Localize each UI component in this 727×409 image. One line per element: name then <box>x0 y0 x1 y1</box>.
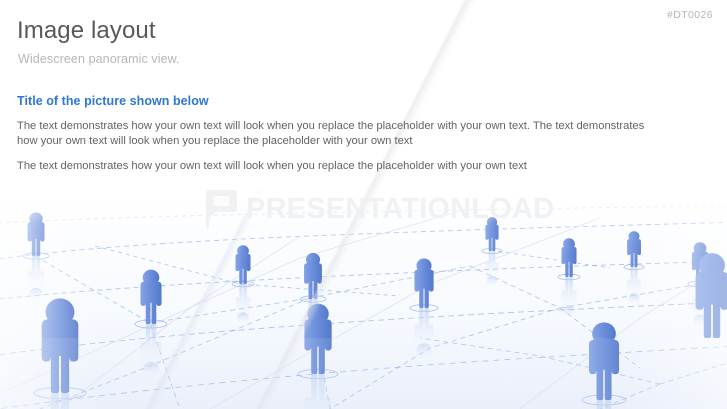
text-block: Title of the picture shown below The tex… <box>17 94 677 174</box>
body-paragraph-1: The text demonstrates how your own text … <box>17 119 662 148</box>
slide: #DT0026 Image layout Widescreen panorami… <box>0 0 727 409</box>
body-paragraph-2: The text demonstrates how your own text … <box>17 159 662 174</box>
network-illustration <box>0 188 727 409</box>
image-panel <box>0 188 727 409</box>
page-subtitle: Widescreen panoramic view. <box>18 52 180 66</box>
document-id: #DT0026 <box>667 9 713 21</box>
picture-title: Title of the picture shown below <box>17 94 677 108</box>
page-title: Image layout <box>17 17 156 45</box>
